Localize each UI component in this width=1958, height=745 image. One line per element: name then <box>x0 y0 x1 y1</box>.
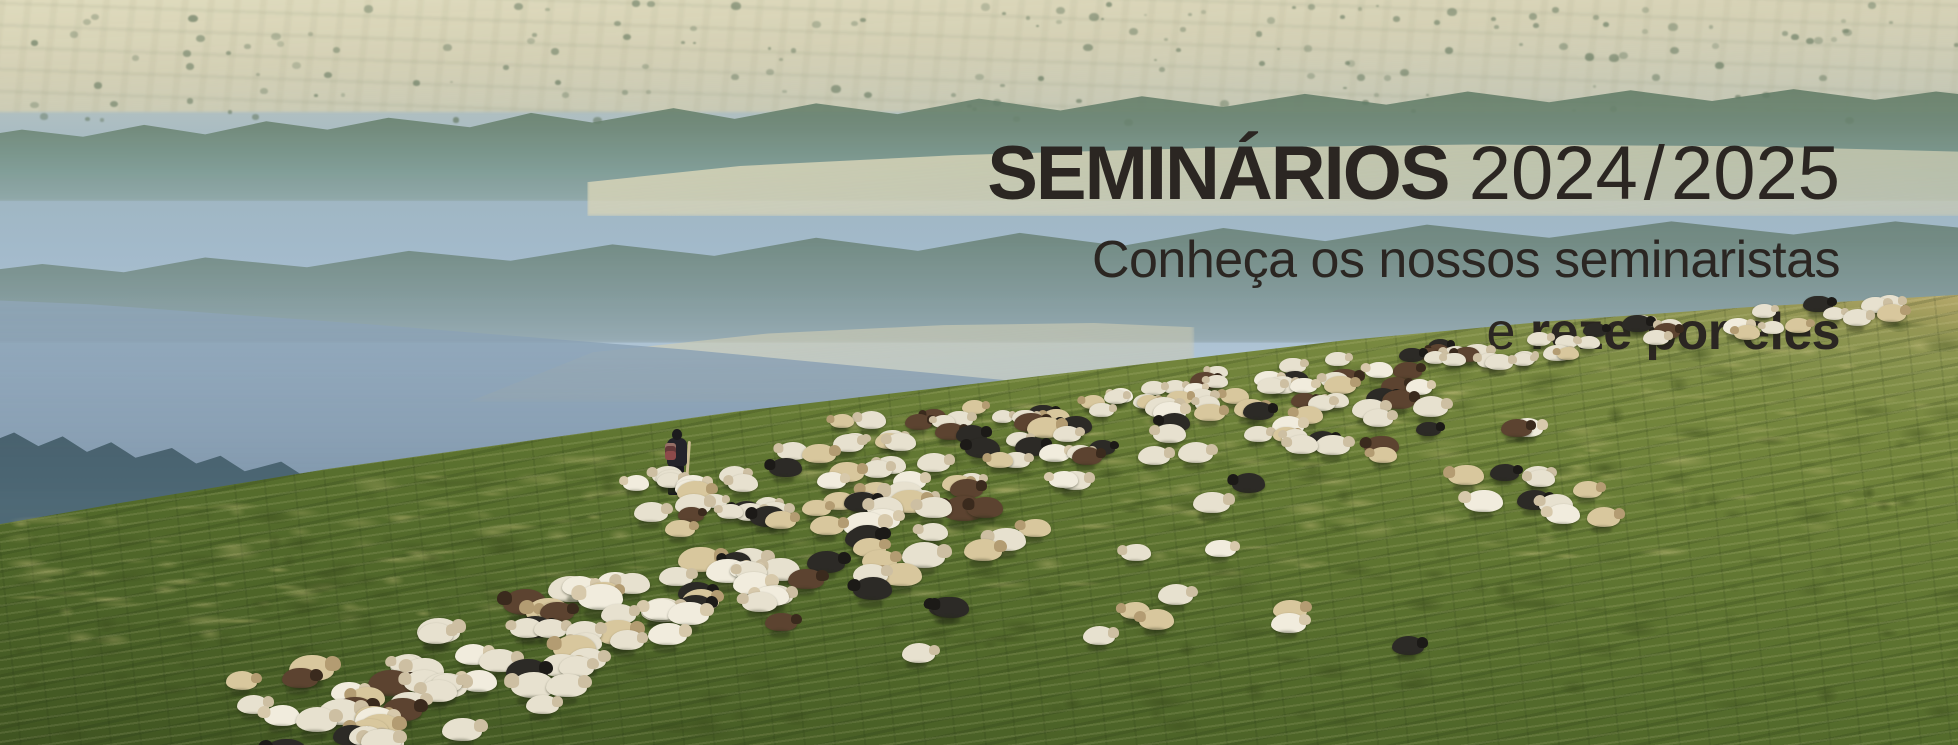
sheep <box>810 516 844 536</box>
sheep-flock <box>0 0 1958 745</box>
sheep <box>1158 584 1194 605</box>
sheep <box>1153 424 1185 443</box>
sheep <box>1072 447 1102 465</box>
shepherd-backpack <box>665 443 676 460</box>
sheep <box>765 613 797 632</box>
sheep <box>1877 304 1907 321</box>
sheep <box>648 623 687 645</box>
sheep <box>1392 636 1424 654</box>
sheep <box>1752 304 1776 318</box>
sheep <box>1285 435 1318 454</box>
sheep <box>665 520 695 537</box>
sheep <box>526 695 559 714</box>
sheep <box>986 452 1014 468</box>
sheep <box>1442 353 1466 367</box>
sheep <box>853 577 893 600</box>
sheep <box>1049 471 1078 488</box>
sheep <box>802 444 836 464</box>
headline-year-start: 2024 <box>1469 131 1638 216</box>
sheep <box>1557 347 1579 360</box>
sheep <box>1039 444 1070 462</box>
sheep <box>442 718 482 741</box>
headline-subtitle: Conheça os nossos seminaristas <box>740 234 1840 286</box>
sheep <box>361 729 401 745</box>
sheep <box>1622 315 1652 332</box>
sheep <box>1843 309 1872 326</box>
sheep <box>534 619 567 638</box>
sheep <box>742 592 776 612</box>
sheep <box>915 497 952 518</box>
sheep <box>1369 447 1397 463</box>
sheep <box>885 433 916 451</box>
sheep <box>264 705 301 726</box>
sheep <box>1325 352 1350 366</box>
sheep <box>1089 403 1113 417</box>
sheep <box>765 511 796 529</box>
sheep <box>1141 381 1166 395</box>
sheep <box>1363 409 1394 427</box>
sheep <box>282 668 318 689</box>
sheep <box>1205 540 1235 557</box>
sheep <box>817 472 846 489</box>
sheep <box>933 597 969 618</box>
sheep <box>1734 325 1760 340</box>
sheep <box>1526 470 1555 487</box>
sheep <box>802 500 830 516</box>
sheep <box>992 410 1014 422</box>
sheep <box>634 502 669 522</box>
sheep <box>1399 348 1424 363</box>
headline-title-line: SEMINÁRIOS 2024/2025 <box>740 136 1840 212</box>
sheep <box>1416 422 1441 436</box>
sheep <box>902 643 936 662</box>
sheep <box>717 504 743 519</box>
sheep <box>1271 613 1306 633</box>
sheep <box>1139 609 1174 629</box>
sheep <box>1290 378 1317 393</box>
sheep <box>264 739 308 745</box>
sheep <box>1365 362 1393 378</box>
sheep <box>1546 504 1580 524</box>
sheep <box>546 674 587 698</box>
shepherd-head <box>672 429 682 440</box>
seminary-banner: SEMINÁRIOS 2024/2025 Conheça os nossos s… <box>0 0 1958 745</box>
sheep <box>1761 321 1783 334</box>
sheep <box>1490 464 1519 481</box>
sheep <box>769 458 802 477</box>
sheep <box>1243 402 1274 420</box>
sheep <box>1232 473 1266 492</box>
sheep <box>1643 330 1669 345</box>
sheep <box>1587 507 1621 527</box>
sheep <box>1448 465 1484 486</box>
sheep <box>1138 446 1170 464</box>
sheep <box>856 411 886 428</box>
sheep <box>1527 332 1552 346</box>
sheep <box>1785 318 1811 333</box>
sheep <box>967 497 1004 518</box>
sheep <box>610 630 644 650</box>
sheep <box>964 539 1002 561</box>
sheep <box>1823 307 1846 320</box>
sheep <box>917 453 951 473</box>
sheep <box>418 623 454 644</box>
sheep <box>668 602 709 626</box>
sheep <box>1194 404 1225 422</box>
sheep <box>623 475 650 491</box>
sheep <box>1577 336 1600 349</box>
sheep <box>1573 481 1603 498</box>
sheep <box>1178 442 1214 463</box>
sheep <box>1501 419 1532 437</box>
sheep <box>830 414 855 428</box>
sheep <box>917 523 948 541</box>
sheep <box>1121 544 1151 561</box>
headline-year-separator: / <box>1638 131 1671 216</box>
headline-title: SEMINÁRIOS <box>987 131 1448 216</box>
sheep <box>1104 390 1128 404</box>
sheep <box>1257 378 1285 394</box>
sheep <box>296 707 338 731</box>
sheep <box>728 474 758 492</box>
sheep <box>1244 426 1272 442</box>
sheep <box>1324 376 1357 395</box>
sheep <box>1053 426 1081 442</box>
sheep <box>1413 396 1449 417</box>
sheep <box>1464 490 1503 512</box>
sheep <box>1485 354 1514 371</box>
sheep <box>226 671 258 689</box>
sheep <box>1193 492 1230 514</box>
sheep <box>1393 362 1422 379</box>
headline-year-end: 2025 <box>1671 131 1840 216</box>
sheep <box>1083 626 1115 644</box>
sheep <box>1315 435 1350 455</box>
sheep <box>905 414 933 430</box>
